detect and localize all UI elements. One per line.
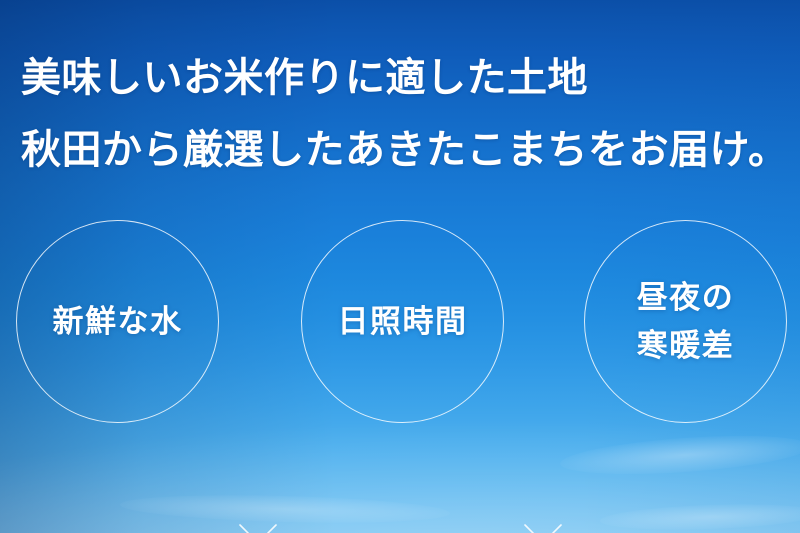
multiply-icon	[237, 522, 279, 533]
feature-circle-label: 昼夜の 寒暖差	[637, 274, 735, 370]
feature-circle-fresh-water: 新鮮な水	[16, 220, 219, 423]
multiply-icon	[522, 522, 564, 533]
feature-circle-temperature-difference: 昼夜の 寒暖差	[584, 220, 787, 423]
headline-line-1: 美味しいお米作りに適した土地	[21, 42, 781, 114]
promo-banner: 美味しいお米作りに適した土地 秋田から厳選したあきたこまちをお届け。 新鮮な水 …	[0, 0, 800, 533]
feature-circle-sunshine-hours: 日照時間	[301, 220, 504, 423]
headline-line-2: 秋田から厳選したあきたこまちをお届け。	[21, 114, 781, 186]
feature-circle-label: 新鮮な水	[53, 299, 183, 344]
headline: 美味しいお米作りに適した土地 秋田から厳選したあきたこまちをお届け。	[21, 42, 781, 186]
feature-circle-label: 日照時間	[338, 299, 468, 344]
cloud-wisp-icon	[120, 492, 451, 527]
cloud-wisp-icon	[600, 501, 800, 533]
cloud-wisp-icon	[559, 429, 800, 480]
feature-circle-row: 新鮮な水 日照時間 昼夜の 寒暖差	[0, 220, 800, 425]
